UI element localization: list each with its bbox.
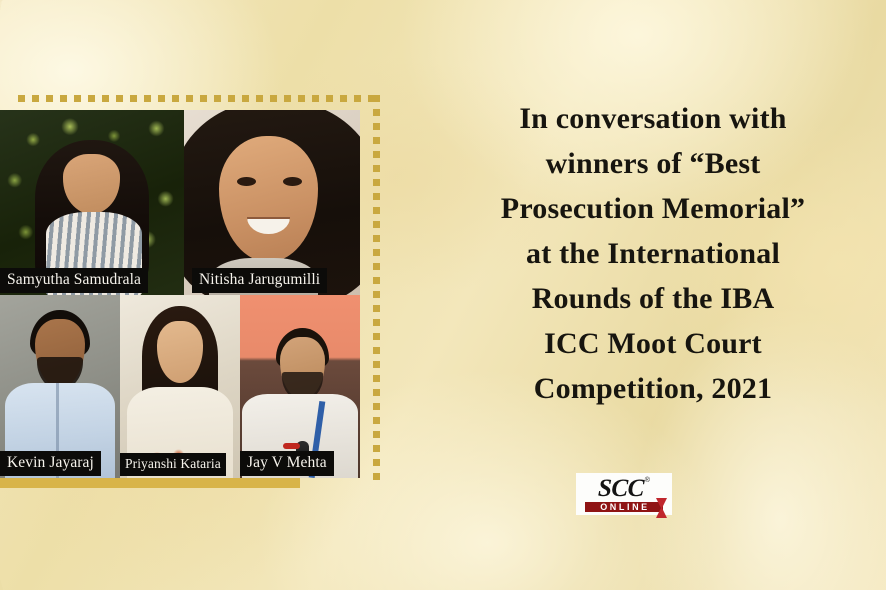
headline-line-4: at the International [420,231,886,276]
scc-logo-wordmark: SCC ® [598,476,650,501]
photo-row-bottom: Kevin Jayaraj Priyanshi Kataria Jay V [0,295,360,478]
headline-line-5: Rounds of the IBA [420,276,886,321]
scc-flag-icon [656,498,667,518]
dashed-frame-top-edge [18,95,380,102]
photo-row-top: Samyutha Samudrala Nitisha Jarugumilli [0,110,360,295]
photo-cell-samyutha-samudrala: Samyutha Samudrala [0,110,184,295]
photo-cell-kevin-jayaraj: Kevin Jayaraj [0,295,120,478]
scc-online-logo: SCC ® ONLINE [576,473,672,515]
headline-line-2: winners of “Best [420,141,886,186]
scc-brand-text: SCC [598,476,645,501]
headline-line-6: ICC Moot Court [420,321,886,366]
portrait-eye-left [237,177,256,186]
portrait-wristband [283,443,300,449]
name-label-jay-v-mehta: Jay V Mehta [240,451,334,477]
portrait-eye-right [283,177,302,186]
collage-area: Samyutha Samudrala Nitisha Jarugumilli [0,0,400,590]
name-label-nitisha-jarugumilli: Nitisha Jarugumilli [192,268,327,294]
name-label-priyanshi-kataria: Priyanshi Kataria [120,453,226,477]
headline-line-1: In conversation with [420,96,886,141]
solid-gold-frame [0,478,300,488]
headline-line-7: Competition, 2021 [420,366,886,411]
name-label-samyutha-samudrala: Samyutha Samudrala [0,268,148,294]
photo-cell-nitisha-jarugumilli: Nitisha Jarugumilli [184,110,360,295]
dashed-frame-right-edge [373,95,380,487]
registered-trademark-icon: ® [645,477,650,484]
name-label-kevin-jayaraj: Kevin Jayaraj [0,451,101,477]
photo-grid: Samyutha Samudrala Nitisha Jarugumilli [0,110,360,478]
headline-block: In conversation with winners of “Best Pr… [420,96,886,411]
scc-subtitle-text: ONLINE [598,502,650,512]
photo-cell-priyanshi-kataria: Priyanshi Kataria [120,295,240,478]
photo-cell-jay-v-mehta: Jay V Mehta [240,295,360,478]
scc-logo-bar: ONLINE [585,502,663,512]
headline-line-3: Prosecution Memorial” [420,186,886,231]
